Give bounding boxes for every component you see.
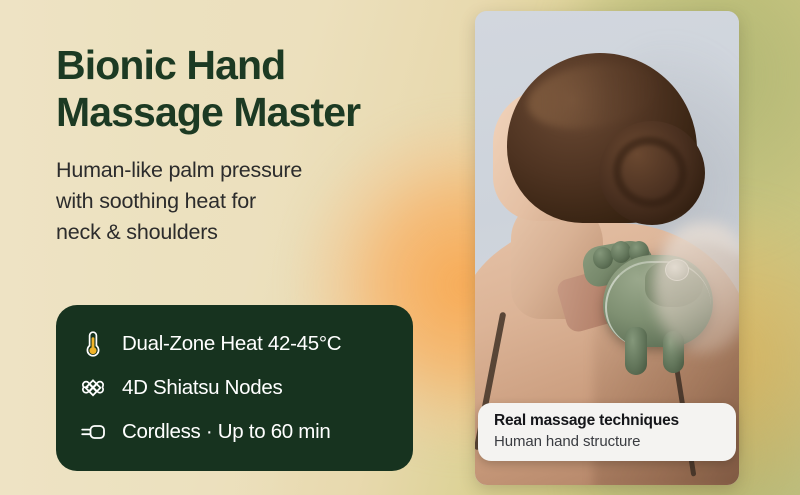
feature-row-heat: Dual-Zone Heat 42-45°C [80,323,393,365]
feature-list-card: Dual-Zone Heat 42-45°C 4D Shi [56,305,413,471]
caption-title: Real massage techniques [494,412,722,430]
feature-label-cordless: Cordless · Up to 60 min [122,420,330,444]
product-banner: Bionic Hand Massage Master Human-like pa… [0,0,800,495]
feature-label-nodes: 4D Shiatsu Nodes [122,376,282,400]
hero-copy: Bionic Hand Massage Master Human-like pa… [56,42,456,247]
cordless-plug-icon [80,417,106,447]
photo-caption-card: Real massage techniques Human hand struc… [478,403,736,461]
feature-row-nodes: 4D Shiatsu Nodes [80,367,393,409]
feature-row-cordless: Cordless · Up to 60 min [80,411,393,453]
caption-subtitle: Human hand structure [494,433,722,450]
page-title: Bionic Hand Massage Master [56,42,456,135]
thermometer-icon [80,329,106,359]
hero-subtitle: Human-like palm pressure with soothing h… [56,155,456,247]
massager-finger-node-1 [625,327,647,375]
four-node-icon [80,373,106,403]
massager-finger-node-4 [611,241,631,263]
massager-finger-node-3 [593,247,613,269]
feature-label-heat: Dual-Zone Heat 42-45°C [122,332,341,356]
